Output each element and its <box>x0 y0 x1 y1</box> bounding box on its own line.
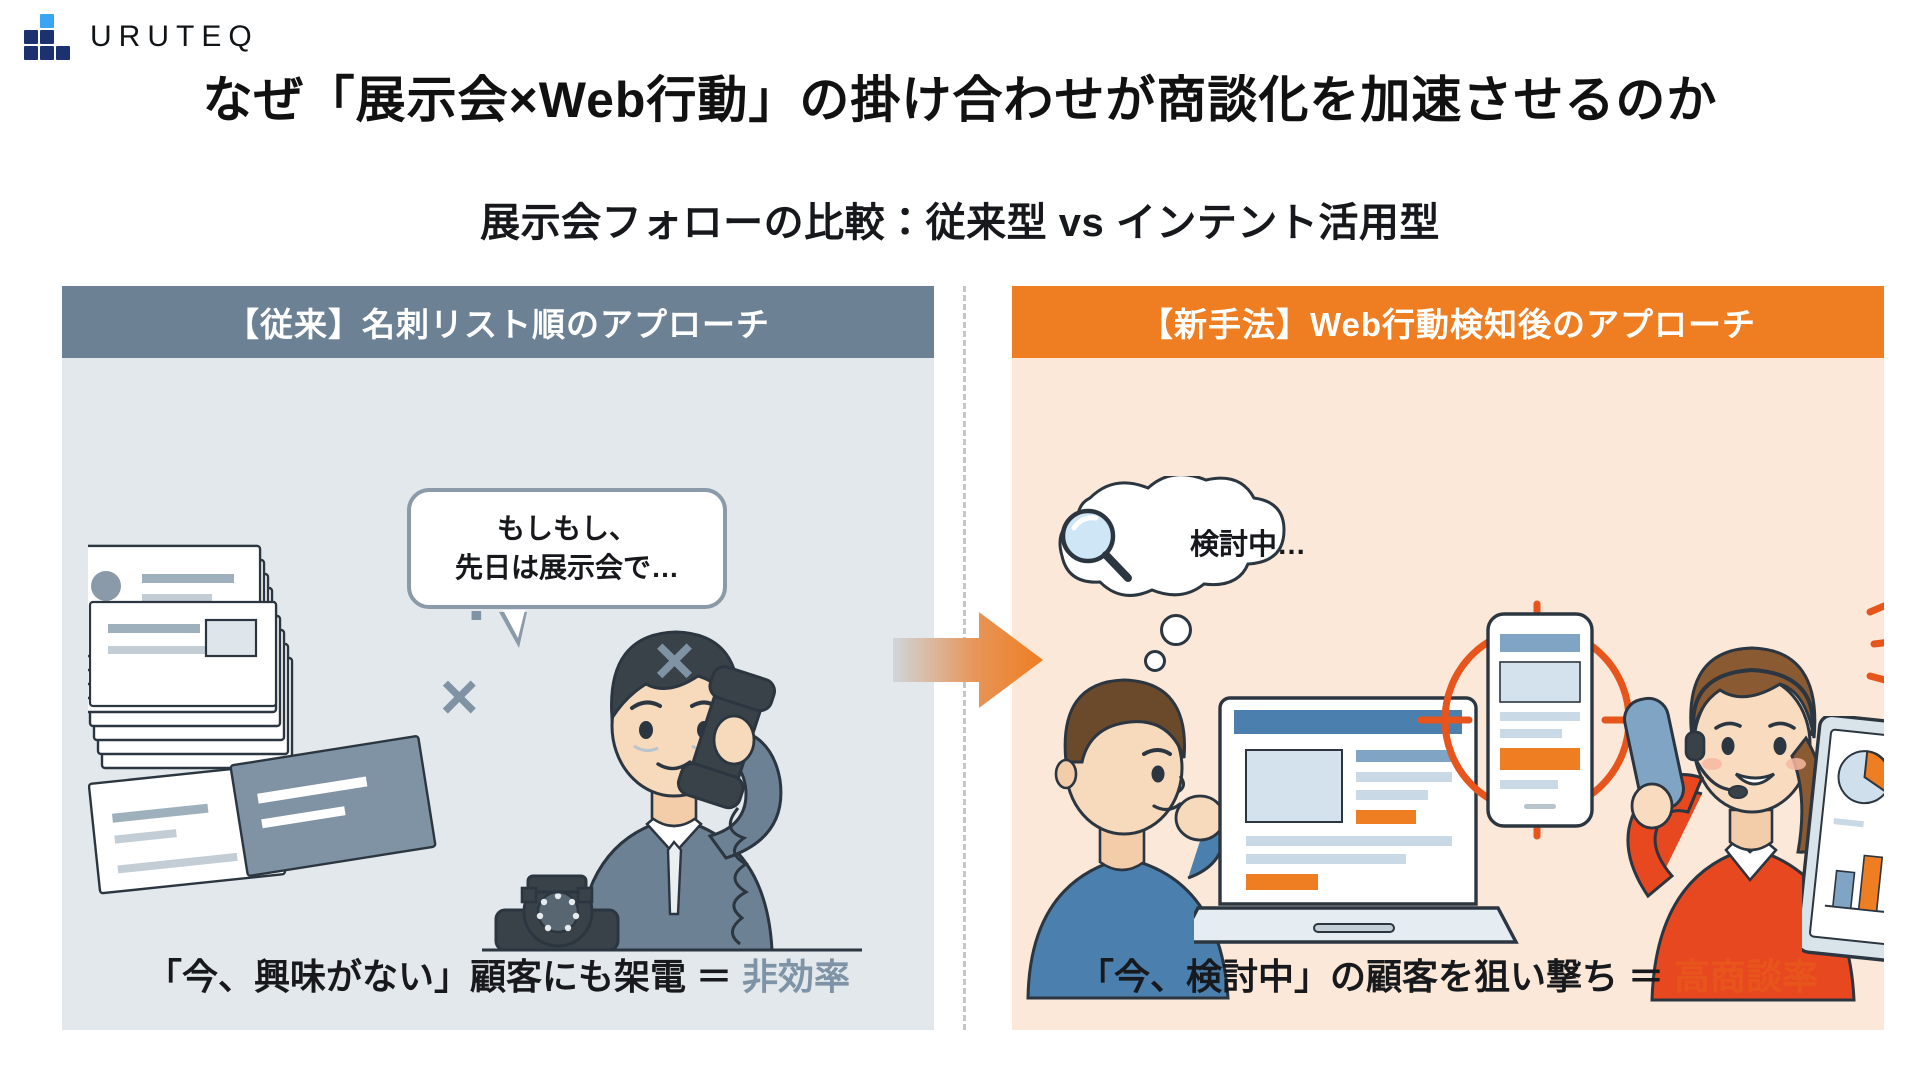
cross-symbol: × <box>654 620 695 700</box>
panel-traditional: 【従来】名刺リスト順のアプローチ <box>62 286 934 1030</box>
logo-block <box>40 46 54 60</box>
logo-block <box>24 30 38 44</box>
speech-bubble-traditional: もしもし、 先日は展示会で… <box>407 488 727 609</box>
excitement-lines-icon <box>1864 596 1884 696</box>
caption-traditional-accent: 非効率 <box>742 956 850 997</box>
smartphone-illustration <box>1480 608 1600 832</box>
magnifier-icon <box>1048 498 1140 590</box>
caption-intent: 「今、検討中」の顧客を狙い撃ち ＝ 高商談率 <box>1012 948 1884 1000</box>
caption-intent-accent: 高商談率 <box>1674 956 1818 997</box>
panel-traditional-body: ? ? × × もしもし、 先日は展示会で… 「今、興味がない」顧客にも架電 ＝… <box>62 358 934 1030</box>
page-subtitle: 展示会フォローの比較：従来型 vs インテント活用型 <box>0 190 1920 248</box>
caption-intent-text: 「今、検討中」の顧客を狙い撃ち ＝ <box>1078 956 1674 997</box>
business-card-stack-illustration <box>88 498 448 898</box>
right-arrow-icon <box>893 612 1043 708</box>
caption-traditional: 「今、興味がない」顧客にも架電 ＝ 非効率 <box>62 948 934 1000</box>
panel-intent: 【新手法】Web行動検知後のアプローチ 検討中… <box>1012 286 1884 1030</box>
page-title: なぜ「展示会×Web行動」の掛け合わせが商談化を加速させるのか <box>0 60 1920 132</box>
logo-block <box>40 30 54 44</box>
speech-bubble-tail-inner <box>503 610 525 638</box>
panel-intent-header: 【新手法】Web行動検知後のアプローチ <box>1012 286 1884 358</box>
caption-traditional-text: 「今、興味がない」顧客にも架電 ＝ <box>146 956 742 997</box>
logo-block-accent <box>40 14 54 28</box>
uruteq-logo-mark <box>24 14 74 60</box>
brand-name: URUTEQ <box>90 20 259 54</box>
brand-logo: URUTEQ <box>24 14 259 60</box>
tablet-dashboard-illustration <box>1802 716 1884 976</box>
panel-traditional-header: 【従来】名刺リスト順のアプローチ <box>62 286 934 358</box>
logo-block <box>56 46 70 60</box>
logo-block <box>24 46 38 60</box>
cross-symbol: × <box>440 658 479 734</box>
thought-bubble-considering: 検討中… <box>1030 476 1340 608</box>
panel-intent-body: 検討中… <box>1012 358 1884 1030</box>
